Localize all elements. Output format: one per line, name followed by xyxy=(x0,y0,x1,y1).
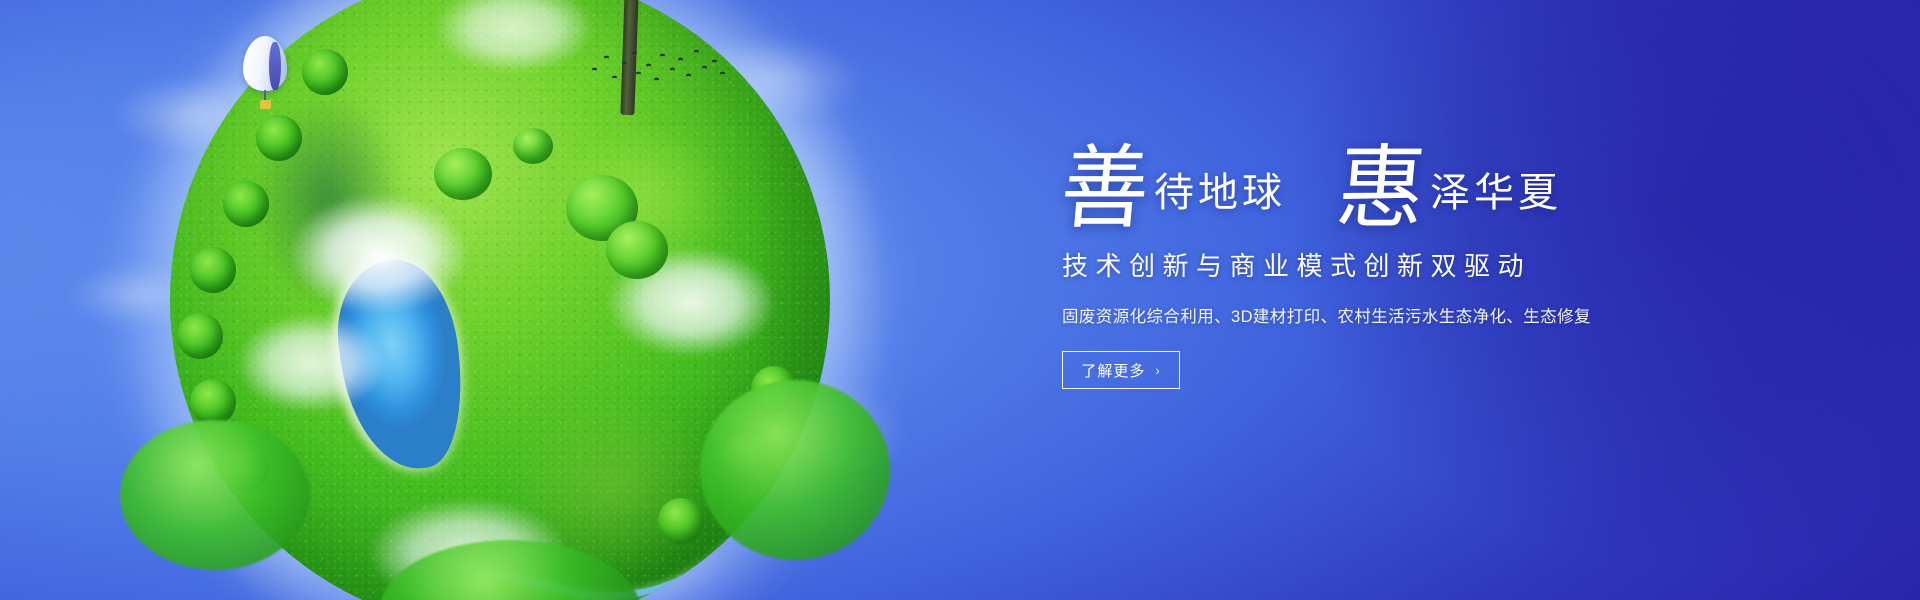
rim-tree-8 xyxy=(302,49,348,95)
bird-icon xyxy=(702,66,707,69)
rim-tree-2 xyxy=(177,313,223,359)
rim-tree-1 xyxy=(190,247,236,293)
chevron-right-icon: › xyxy=(1155,363,1160,378)
planet-bush-2 xyxy=(566,175,638,241)
bird-icon xyxy=(660,54,665,57)
banner-description: 固废资源化综合利用、3D建材打印、农村生活污水生态净化、生态修复 xyxy=(1062,303,1822,327)
learn-more-label: 了解更多 xyxy=(1081,360,1145,381)
bird-icon xyxy=(632,52,637,55)
bird-icon xyxy=(712,60,717,63)
bird-icon xyxy=(646,64,651,67)
bird-icon xyxy=(670,68,675,71)
rim-tree-3 xyxy=(190,379,236,425)
banner-subtitle: 技术创新与商业模式创新双驱动 xyxy=(1062,246,1822,283)
hero-banner: 善 待地球 惠 泽华夏 技术创新与商业模式创新双驱动 固废资源化综合利用、3D建… xyxy=(0,0,1920,600)
flock-of-birds xyxy=(588,46,728,94)
balloon-basket xyxy=(260,100,271,109)
banner-headline: 善 待地球 惠 泽华夏 xyxy=(1062,132,1822,224)
headline-char-hui: 惠 xyxy=(1333,147,1428,233)
bird-icon xyxy=(720,72,725,75)
balloon-stripe xyxy=(269,42,281,90)
bird-icon xyxy=(604,56,609,59)
foreground-tree-right xyxy=(700,380,890,560)
planet-cloud-2 xyxy=(236,313,386,413)
hot-air-balloon xyxy=(243,36,287,118)
bird-icon xyxy=(592,68,597,71)
planet-bush-1 xyxy=(434,148,492,200)
learn-more-button[interactable]: 了解更多 › xyxy=(1062,351,1180,389)
banner-content: 善 待地球 惠 泽华夏 技术创新与商业模式创新双驱动 固废资源化综合利用、3D建… xyxy=(1062,132,1822,389)
bird-icon xyxy=(678,58,683,61)
bird-icon xyxy=(654,78,659,81)
rim-tree-10 xyxy=(223,181,269,227)
lake-shoreline xyxy=(313,239,477,481)
rim-tree-9 xyxy=(256,115,302,161)
headline-text-daidiqiu: 待地球 xyxy=(1154,160,1286,218)
bird-icon xyxy=(612,76,617,79)
foreground-tree-left xyxy=(120,420,310,570)
bird-icon xyxy=(686,74,691,77)
headline-text-zehuaxia: 泽华夏 xyxy=(1430,160,1562,218)
bird-icon xyxy=(694,50,699,53)
lake xyxy=(328,253,474,477)
headline-char-shan: 善 xyxy=(1057,147,1152,233)
rim-tree-7 xyxy=(658,498,704,544)
planet-bush-3 xyxy=(606,221,668,279)
bird-icon xyxy=(636,72,641,75)
planet-cloud-1 xyxy=(289,194,469,314)
bird-icon xyxy=(622,62,627,65)
planet-cloud-3 xyxy=(606,247,776,357)
